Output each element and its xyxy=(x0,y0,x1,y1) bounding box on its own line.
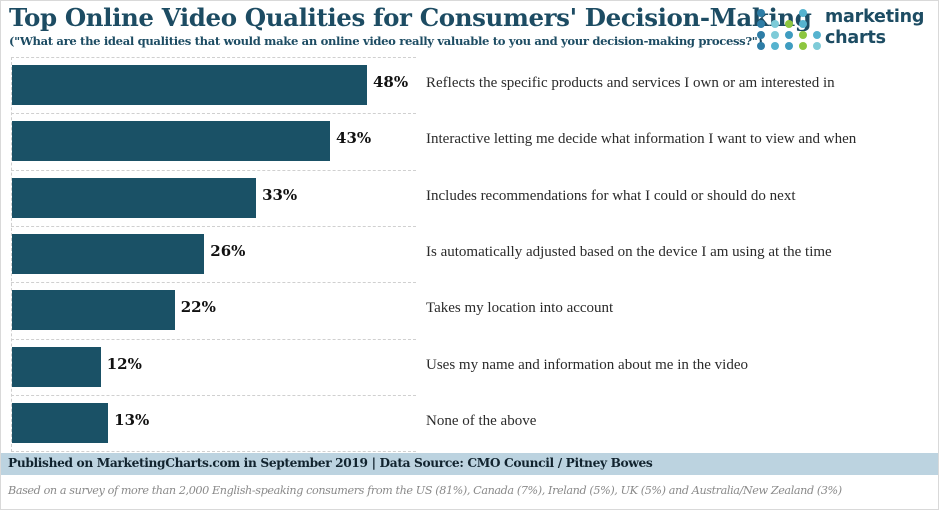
logo-dot xyxy=(799,31,807,39)
logo-dot xyxy=(771,42,779,50)
bar-category-label: Uses my name and information about me in… xyxy=(426,357,748,374)
grid-separator-line xyxy=(11,170,416,171)
bar xyxy=(12,403,108,443)
chart-row: 26%Is automatically adjusted based on th… xyxy=(1,226,939,282)
grid-separator-line xyxy=(11,395,416,396)
logo-dot xyxy=(785,20,793,28)
logo-dot xyxy=(799,9,807,17)
bar-chart-plot: 48%Reflects the specific products and se… xyxy=(1,57,939,452)
footer-band: Published on MarketingCharts.com in Sept… xyxy=(1,453,938,475)
bar-value-label: 33% xyxy=(262,186,297,204)
logo-wordmark-line2: charts xyxy=(825,28,924,49)
logo-wordmark-line1: marketing xyxy=(825,7,924,28)
chart-page: Top Online Video Qualities for Consumers… xyxy=(0,0,939,510)
page-title: Top Online Video Qualities for Consumers… xyxy=(9,3,812,32)
bar-value-label: 22% xyxy=(181,298,216,316)
footer-survey-note: Based on a survey of more than 2,000 Eng… xyxy=(8,484,842,497)
grid-separator-line xyxy=(11,282,416,283)
bar xyxy=(12,65,367,105)
grid-separator-line xyxy=(11,226,416,227)
bar-value-label: 26% xyxy=(210,242,245,260)
logo-dot xyxy=(799,42,807,50)
bar-category-label: Is automatically adjusted based on the d… xyxy=(426,244,832,261)
logo-dot xyxy=(757,20,765,28)
logo-dot xyxy=(771,31,779,39)
bar-category-label: Takes my location into account xyxy=(426,300,613,317)
grid-separator-line xyxy=(11,339,416,340)
page-subtitle: ("What are the ideal qualities that woul… xyxy=(9,34,763,48)
bar-category-label: Reflects the specific products and servi… xyxy=(426,75,835,92)
bar-category-label: Interactive letting me decide what infor… xyxy=(426,131,856,148)
logo-dot-grid-icon xyxy=(757,9,819,51)
chart-row: 12%Uses my name and information about me… xyxy=(1,339,939,395)
logo-dot xyxy=(799,20,807,28)
logo-dot xyxy=(785,42,793,50)
grid-separator-line xyxy=(11,451,416,452)
logo-dot xyxy=(813,42,821,50)
bar-value-label: 48% xyxy=(373,73,408,91)
logo-wordmark: marketing charts xyxy=(825,7,924,49)
logo-dot xyxy=(757,9,765,17)
marketingcharts-logo: marketing charts xyxy=(757,7,937,53)
bar-category-label: None of the above xyxy=(426,413,536,430)
chart-row: 22%Takes my location into account xyxy=(1,282,939,338)
bar xyxy=(12,121,330,161)
bar-value-label: 13% xyxy=(114,411,149,429)
bar-value-label: 43% xyxy=(336,129,371,147)
grid-separator-line xyxy=(11,57,416,58)
logo-dot xyxy=(813,31,821,39)
chart-row: 13%None of the above xyxy=(1,395,939,451)
footer-published-text: Published on MarketingCharts.com in Sept… xyxy=(8,456,652,470)
bar xyxy=(12,290,175,330)
logo-dot xyxy=(771,20,779,28)
bar xyxy=(12,234,204,274)
logo-dot xyxy=(757,42,765,50)
chart-row: 43%Interactive letting me decide what in… xyxy=(1,113,939,169)
bar-value-label: 12% xyxy=(107,355,142,373)
chart-row: 33%Includes recommendations for what I c… xyxy=(1,170,939,226)
grid-separator-line xyxy=(11,113,416,114)
bar xyxy=(12,347,101,387)
logo-dot xyxy=(757,31,765,39)
bar-category-label: Includes recommendations for what I coul… xyxy=(426,188,796,205)
chart-row: 48%Reflects the specific products and se… xyxy=(1,57,939,113)
logo-dot xyxy=(785,31,793,39)
bar xyxy=(12,178,256,218)
